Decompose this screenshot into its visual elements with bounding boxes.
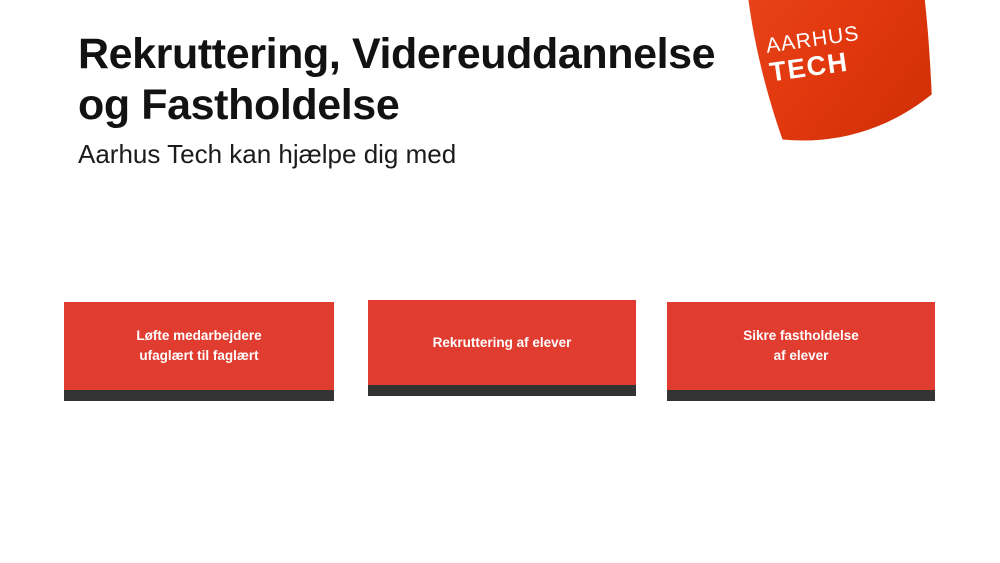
card-body: Sikre fastholdelse af elever — [667, 302, 935, 390]
card-body: Løfte medarbejdere ufaglært til faglært — [64, 302, 334, 390]
card-loeft-medarbejdere[interactable]: Løfte medarbejdere ufaglært til faglært — [64, 302, 334, 401]
card-body: Rekruttering af elever — [368, 300, 636, 385]
card-footer-bar — [368, 385, 636, 396]
card-footer-bar — [667, 390, 935, 401]
slide-canvas: AARHUS TECH Rekruttering, Videreuddannel… — [0, 0, 1000, 563]
card-label: Sikre fastholdelse af elever — [743, 326, 859, 365]
card-label: Rekruttering af elever — [433, 333, 572, 353]
card-row: Løfte medarbejdere ufaglært til faglært … — [0, 0, 1000, 563]
card-footer-bar — [64, 390, 334, 401]
card-label: Løfte medarbejdere ufaglært til faglært — [136, 326, 261, 365]
card-sikre-fastholdelse[interactable]: Sikre fastholdelse af elever — [667, 302, 935, 401]
card-rekruttering-af-elever[interactable]: Rekruttering af elever — [368, 300, 636, 396]
